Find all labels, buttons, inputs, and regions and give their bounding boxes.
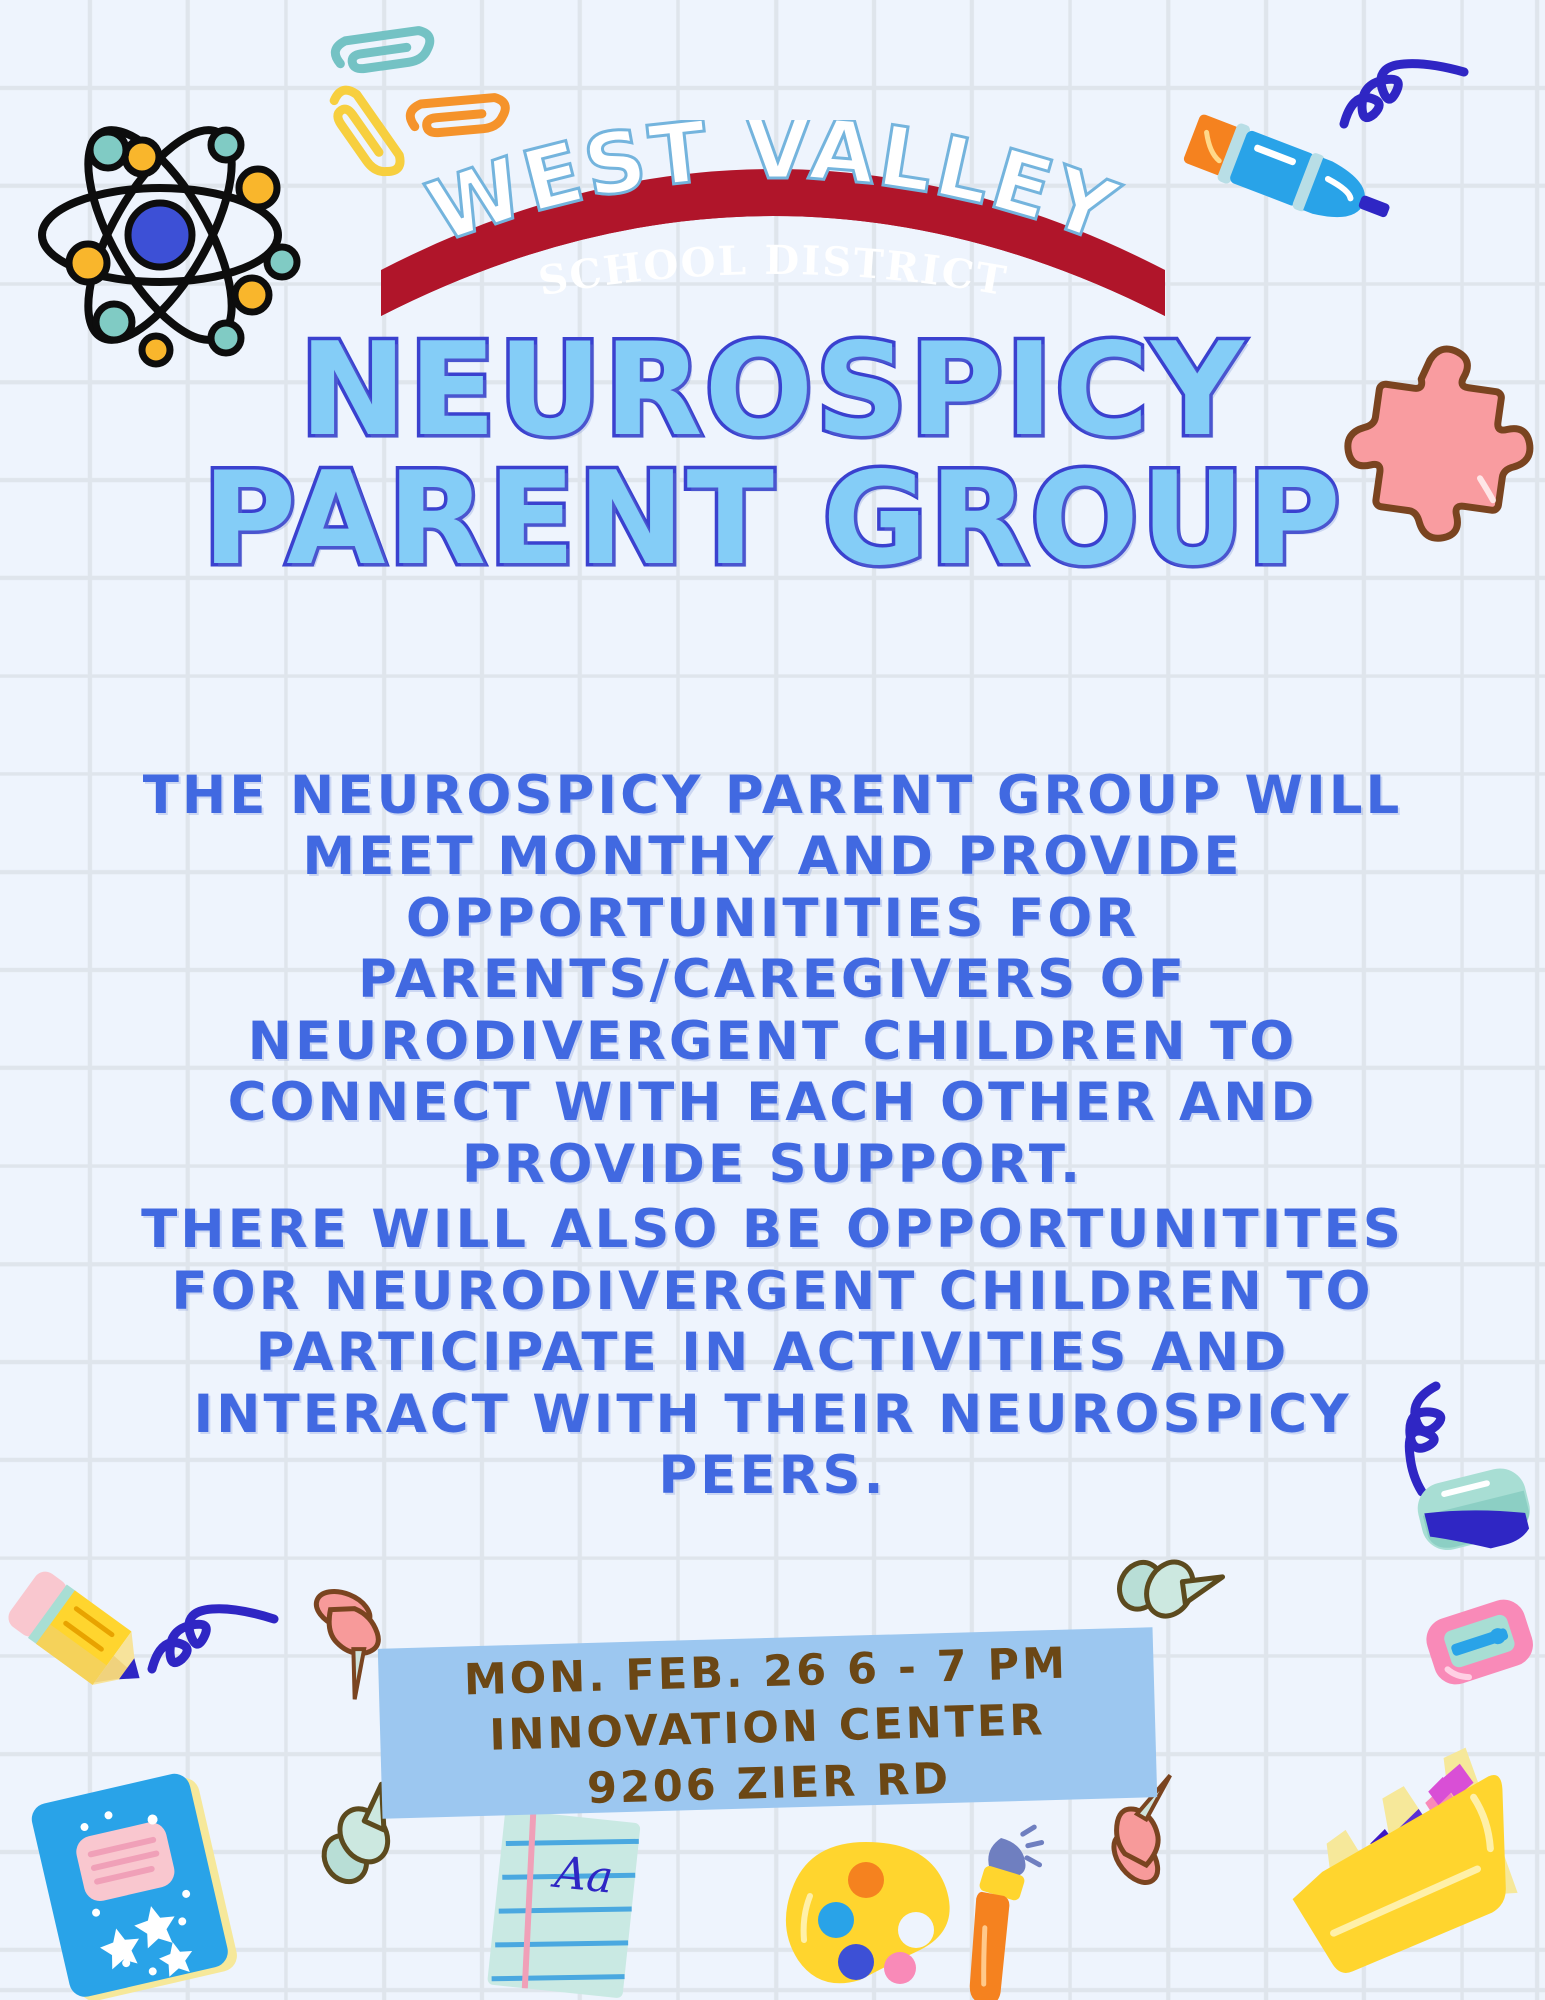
body-paragraph-2: THERE WILL ALSO BE OPPORTUNITITES FOR NE…	[60, 1199, 1485, 1506]
pink-sharpener-icon	[1414, 1583, 1545, 1703]
body-line: INTERACT WITH THEIR NEUROSPICY	[193, 1384, 1351, 1445]
title-line-1: NEUROSPICY	[0, 330, 1545, 453]
blue-squiggle-bottom-left-icon	[148, 1585, 283, 1675]
poster-body-text: THE NEUROSPICY PARENT GROUP WILL MEET MO…	[60, 765, 1485, 1507]
body-line: NEURODIVERGENT CHILDREN TO	[248, 1011, 1298, 1072]
event-details: MON. FEB. 26 6 - 7 PM INNOVATION CENTER …	[378, 1634, 1157, 1823]
body-line: MEET MONTHY AND PROVIDE	[302, 826, 1242, 887]
paint-palette-icon	[788, 1838, 953, 1988]
body-line: PARTICIPATE IN ACTIVITIES AND	[256, 1322, 1290, 1383]
logo-sub-text: SCHOOL DISTRICT	[535, 237, 1011, 305]
lined-paper-aa-icon: Aa	[481, 1803, 650, 2000]
west-valley-school-district-logo: WEST VALLEY SCHOOL DISTRICT	[363, 120, 1183, 330]
svg-text:SCHOOL DISTRICT: SCHOOL DISTRICT	[535, 237, 1011, 305]
body-line: OPPORTUNITITIES FOR	[406, 888, 1139, 949]
body-line: THERE WILL ALSO BE OPPORTUNITITES	[141, 1199, 1404, 1260]
paintbrush-icon	[953, 1826, 1058, 2000]
body-line: PARENTS/CAREGIVERS OF	[358, 949, 1187, 1010]
paperclip-teal-icon	[321, 13, 441, 90]
poster-title: NEUROSPICY PARENT GROUP	[0, 330, 1545, 582]
body-line: FOR NEURODIVERGENT CHILDREN TO	[171, 1261, 1373, 1322]
crayon-box-icon	[1257, 1731, 1543, 1989]
body-line: THE NEUROSPICY PARENT GROUP WILL	[143, 765, 1403, 826]
title-line-2: PARENT GROUP	[0, 459, 1545, 582]
atom-icon	[30, 110, 290, 360]
body-line: PEERS.	[658, 1445, 886, 1506]
body-paragraph-1: THE NEUROSPICY PARENT GROUP WILL MEET MO…	[60, 765, 1485, 1195]
body-line: PROVIDE SUPPORT.	[462, 1134, 1083, 1195]
blue-notebook-icon	[26, 1764, 255, 2000]
body-line: CONNECT WITH EACH OTHER AND	[228, 1072, 1318, 1133]
blue-squiggle-top-right-icon	[1340, 40, 1470, 130]
poster-canvas: WEST VALLEY SCHOOL DISTRICT NEUROSPICY P…	[0, 0, 1545, 2000]
lined-paper-label: Aa	[548, 1847, 615, 1904]
